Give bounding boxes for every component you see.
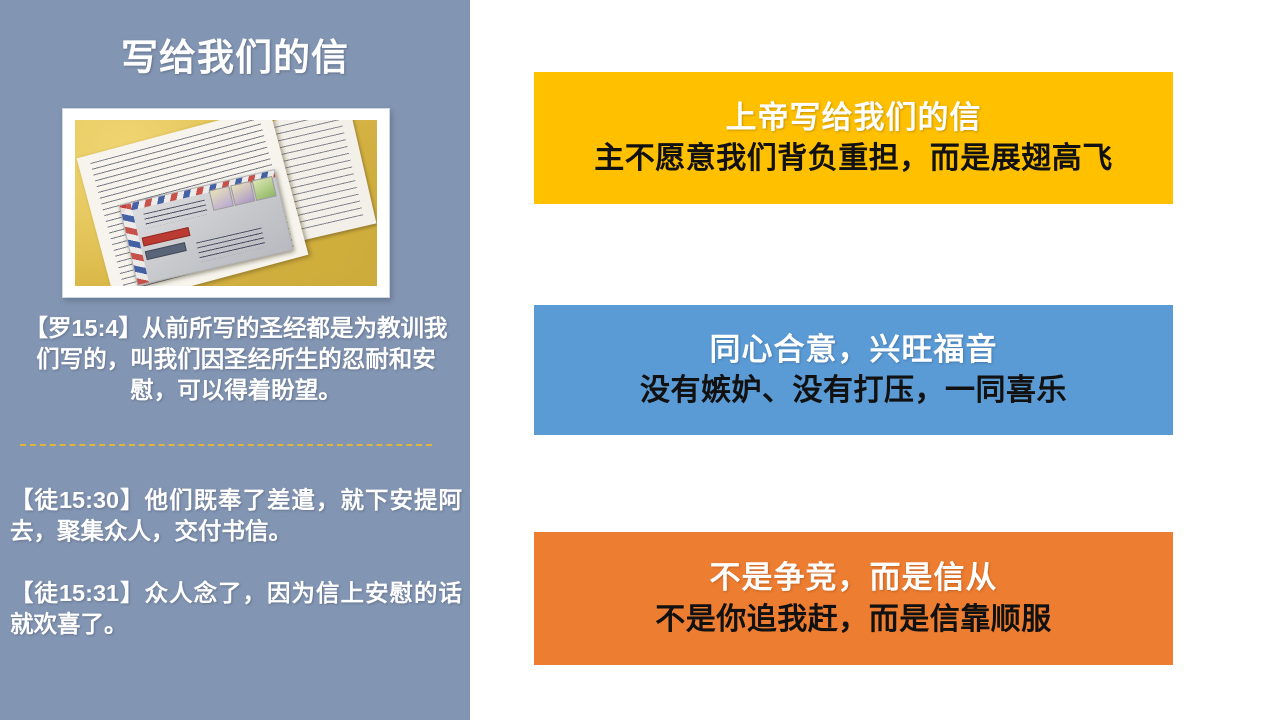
presentation-slide: 写给我们的信 <box>0 0 1280 720</box>
banner-blue-title: 同心合意，兴旺福音 <box>710 332 998 369</box>
banner-yellow: 上帝写给我们的信 主不愿意我们背负重担，而是展翅高飞 <box>534 72 1173 204</box>
photo-frame <box>62 108 390 298</box>
verse-romans-15-4: 【罗15:4】从前所写的圣经都是为教训我们写的，叫我们因圣经所生的忍耐和安慰，可… <box>14 313 458 406</box>
section-divider <box>20 444 432 446</box>
page-title: 写给我们的信 <box>0 38 470 79</box>
postage-stamp-icon <box>231 181 256 206</box>
postage-stamp-icon <box>209 186 234 211</box>
banner-blue-subtitle: 没有嫉妒、没有打压，一同喜乐 <box>640 373 1067 408</box>
postage-stamp-icon <box>252 176 277 201</box>
banner-yellow-subtitle: 主不愿意我们背负重担，而是展翅高飞 <box>594 141 1113 176</box>
banner-orange-subtitle: 不是你追我赶，而是信靠顺服 <box>655 602 1052 637</box>
left-sidebar-panel: 写给我们的信 <box>0 0 470 720</box>
verse-acts-15-31: 【徒15:31】众人念了，因为信上安慰的话就欢喜了。 <box>10 578 462 640</box>
banner-blue: 同心合意，兴旺福音 没有嫉妒、没有打压，一同喜乐 <box>534 305 1173 435</box>
verse-acts-15-30: 【徒15:30】他们既奉了差遣，就下安提阿去，聚集众人，交付书信。 <box>10 485 462 547</box>
banner-orange: 不是争竞，而是信从 不是你追我赶，而是信靠顺服 <box>534 532 1173 665</box>
blue-postmark-label <box>145 243 187 261</box>
banner-orange-title: 不是争竞，而是信从 <box>710 560 998 597</box>
envelope-sender-lines <box>197 228 266 262</box>
banner-yellow-title: 上帝写给我们的信 <box>726 100 982 137</box>
handwritten-letters-photo <box>75 120 377 286</box>
